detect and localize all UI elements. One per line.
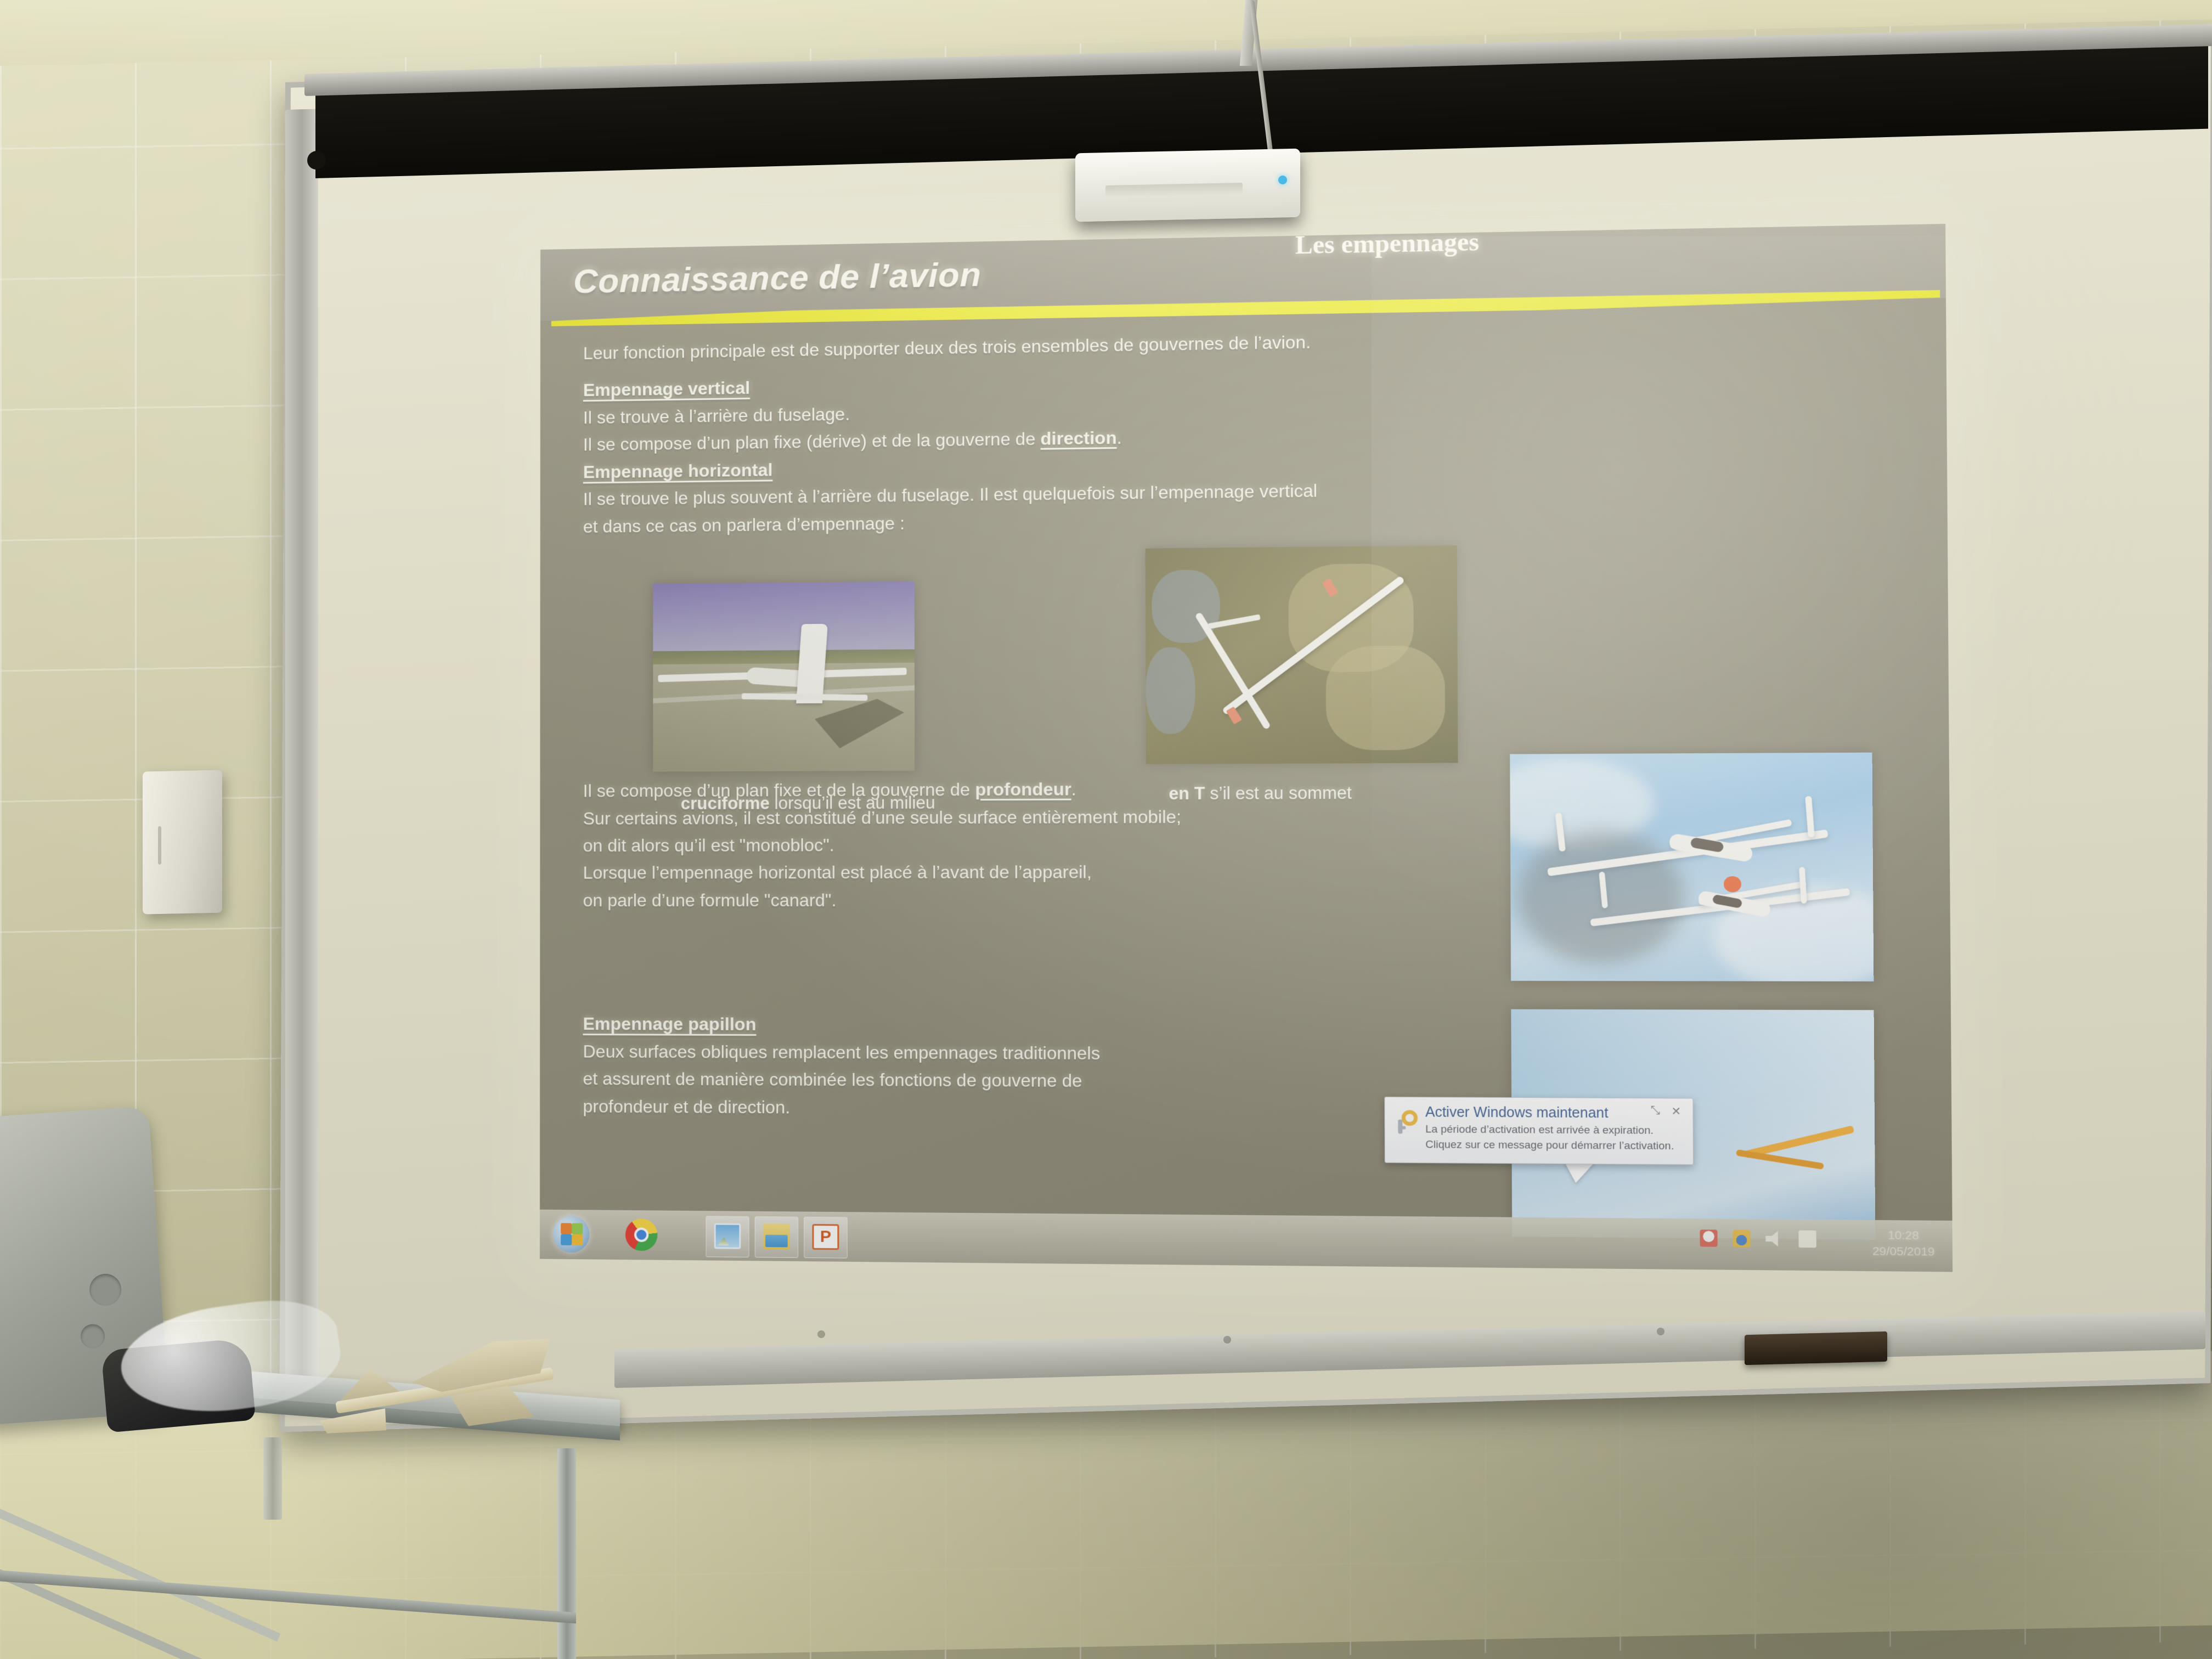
close-icon[interactable]: ✕ xyxy=(1671,1104,1681,1119)
terrain-lake xyxy=(1145,647,1195,734)
tray-volume-icon[interactable] xyxy=(1765,1230,1783,1248)
projected-slide: Connaissance de l’avion Les empennages L… xyxy=(540,224,1953,1272)
system-tray xyxy=(1700,1229,1816,1248)
notification-line-1: La période d’activation est arrivée à ex… xyxy=(1425,1124,1654,1137)
tray-show-desktop-icon[interactable] xyxy=(1798,1231,1816,1248)
file-explorer-glyph xyxy=(763,1223,790,1249)
caption-t-tail-bold: en T xyxy=(1169,783,1205,803)
terrain-rock xyxy=(1326,645,1446,750)
equipment-knob xyxy=(88,1273,122,1307)
tray-notification-icon[interactable] xyxy=(1700,1229,1717,1247)
ceiling-projector xyxy=(1075,149,1300,222)
notification-line-2: Cliquez sur ce message pour démarrer l’a… xyxy=(1425,1139,1674,1153)
section-heading-horizontal: Empennage horizontal xyxy=(583,460,773,482)
powerpoint-glyph: P xyxy=(812,1224,839,1250)
file-explorer-icon[interactable] xyxy=(755,1216,798,1258)
section-heading-vertical: Empennage vertical xyxy=(583,378,750,400)
board-mark xyxy=(1657,1328,1664,1335)
cart-leg xyxy=(263,1437,282,1520)
canard-winglet-right xyxy=(1805,796,1815,838)
whiteboard-eraser xyxy=(1745,1331,1887,1365)
powerpoint-icon[interactable]: P xyxy=(804,1217,848,1259)
classroom-photo: Connaissance de l’avion Les empennages L… xyxy=(0,0,2212,1659)
clock-time: 10:28 xyxy=(1872,1227,1935,1244)
caption-t-tail: en T s’il est au sommet xyxy=(1169,783,1352,804)
slide-title: Connaissance de l’avion xyxy=(573,255,981,301)
photo-viewer-glyph xyxy=(714,1223,741,1249)
vertical-line-2-post: . xyxy=(1117,428,1122,448)
notification-title: Activer Windows maintenant xyxy=(1425,1104,1609,1122)
start-orb[interactable] xyxy=(553,1216,589,1252)
glider-horizontal-tailplane xyxy=(742,693,867,701)
keyword-direction: direction xyxy=(1040,428,1116,449)
notification-balloon-tail xyxy=(1564,1161,1595,1183)
taskbar-clock[interactable]: 10:28 29/05/2019 xyxy=(1872,1227,1935,1260)
wall-mounted-dispenser xyxy=(143,770,222,914)
photo-sky xyxy=(653,582,915,655)
keyword-profondeur: profondeur xyxy=(975,779,1071,799)
clock-date: 29/05/2019 xyxy=(1872,1244,1935,1261)
windows-activation-notification[interactable]: Activer Windows maintenant La période d’… xyxy=(1384,1097,1694,1165)
wing-tip-marking xyxy=(1226,706,1242,724)
section-heading-papillon: Empennage papillon xyxy=(583,1014,756,1034)
start-orb-quadrant xyxy=(572,1223,583,1234)
photo-cruciform-tail-glider xyxy=(653,582,915,772)
notification-options-icon[interactable]: ⤡ xyxy=(1651,1104,1660,1118)
caption-cruciform-bold: cruciforme xyxy=(681,793,770,813)
chrome-icon[interactable] xyxy=(625,1218,658,1251)
model-nose xyxy=(319,1408,386,1434)
projector-status-led xyxy=(1278,176,1287,184)
equipment-knob xyxy=(80,1323,106,1349)
canard-nose-spinner xyxy=(1724,876,1741,892)
equipment-cart xyxy=(0,1311,653,1659)
start-orb-quadrant xyxy=(561,1223,572,1234)
caption-cruciform-rest: lorsqu’il est au milieu xyxy=(770,793,935,812)
start-orb-quadrant xyxy=(561,1234,572,1245)
start-orb-quadrant xyxy=(572,1234,583,1245)
photo-t-tail-glider xyxy=(1145,545,1458,764)
caption-t-tail-rest: s’il est au sommet xyxy=(1205,783,1352,803)
balsa-model-airplane xyxy=(315,1315,606,1456)
cart-leg xyxy=(557,1448,576,1659)
tray-network-icon[interactable] xyxy=(1733,1230,1750,1248)
vertical-line-2-pre: Il se compose d’un plan fixe (dérive) et… xyxy=(583,429,1041,455)
board-mark xyxy=(1223,1336,1231,1344)
photo-canard-aircraft xyxy=(1510,753,1874,981)
board-mark xyxy=(817,1330,825,1338)
whiteboard-left-frame xyxy=(285,109,318,1393)
key-icon xyxy=(1393,1110,1420,1136)
photo-viewer-icon[interactable] xyxy=(706,1216,749,1257)
caption-cruciform: cruciforme lorsqu’il est au milieu xyxy=(681,793,935,814)
middle-line-1-post: . xyxy=(1071,779,1076,799)
